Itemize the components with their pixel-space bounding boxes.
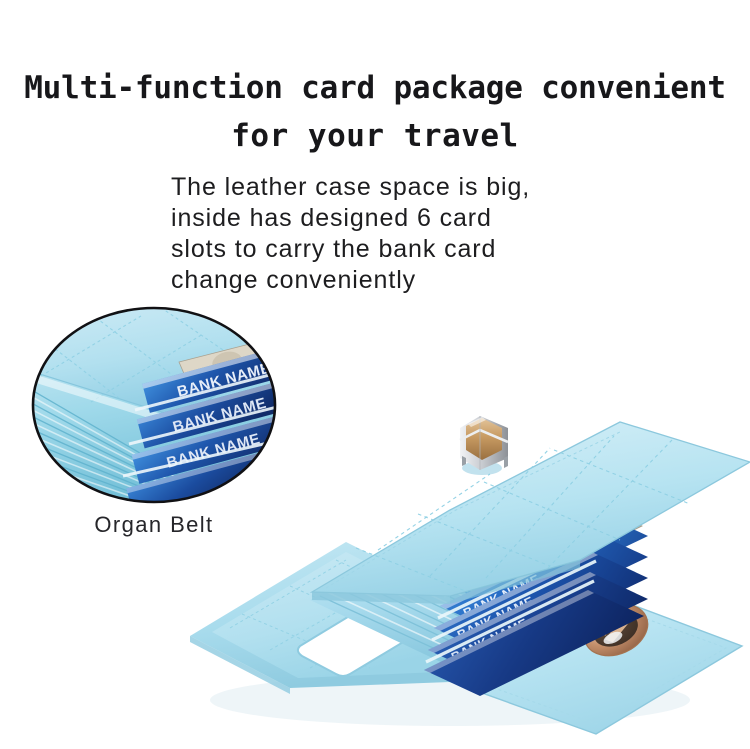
headline-line-1: Multi-function card package convenient bbox=[0, 64, 750, 112]
headline-line-2: for your travel bbox=[0, 112, 750, 160]
page-title: Multi-function card package convenient f… bbox=[0, 64, 750, 160]
product-marketing-image: Multi-function card package convenient f… bbox=[0, 0, 750, 749]
magnetic-clasp bbox=[460, 416, 508, 475]
description-text: The leather case space is big, inside ha… bbox=[171, 172, 591, 296]
description-line-3: slots to carry the bank card bbox=[171, 234, 591, 265]
wallet-top-flap bbox=[312, 422, 750, 604]
description-line-1: The leather case space is big, bbox=[171, 172, 591, 203]
product-photo: 5 BANK NAME BANK NAME bbox=[150, 400, 750, 749]
description-line-2: inside has designed 6 card bbox=[171, 203, 591, 234]
description-line-4: change conveniently bbox=[171, 265, 591, 296]
